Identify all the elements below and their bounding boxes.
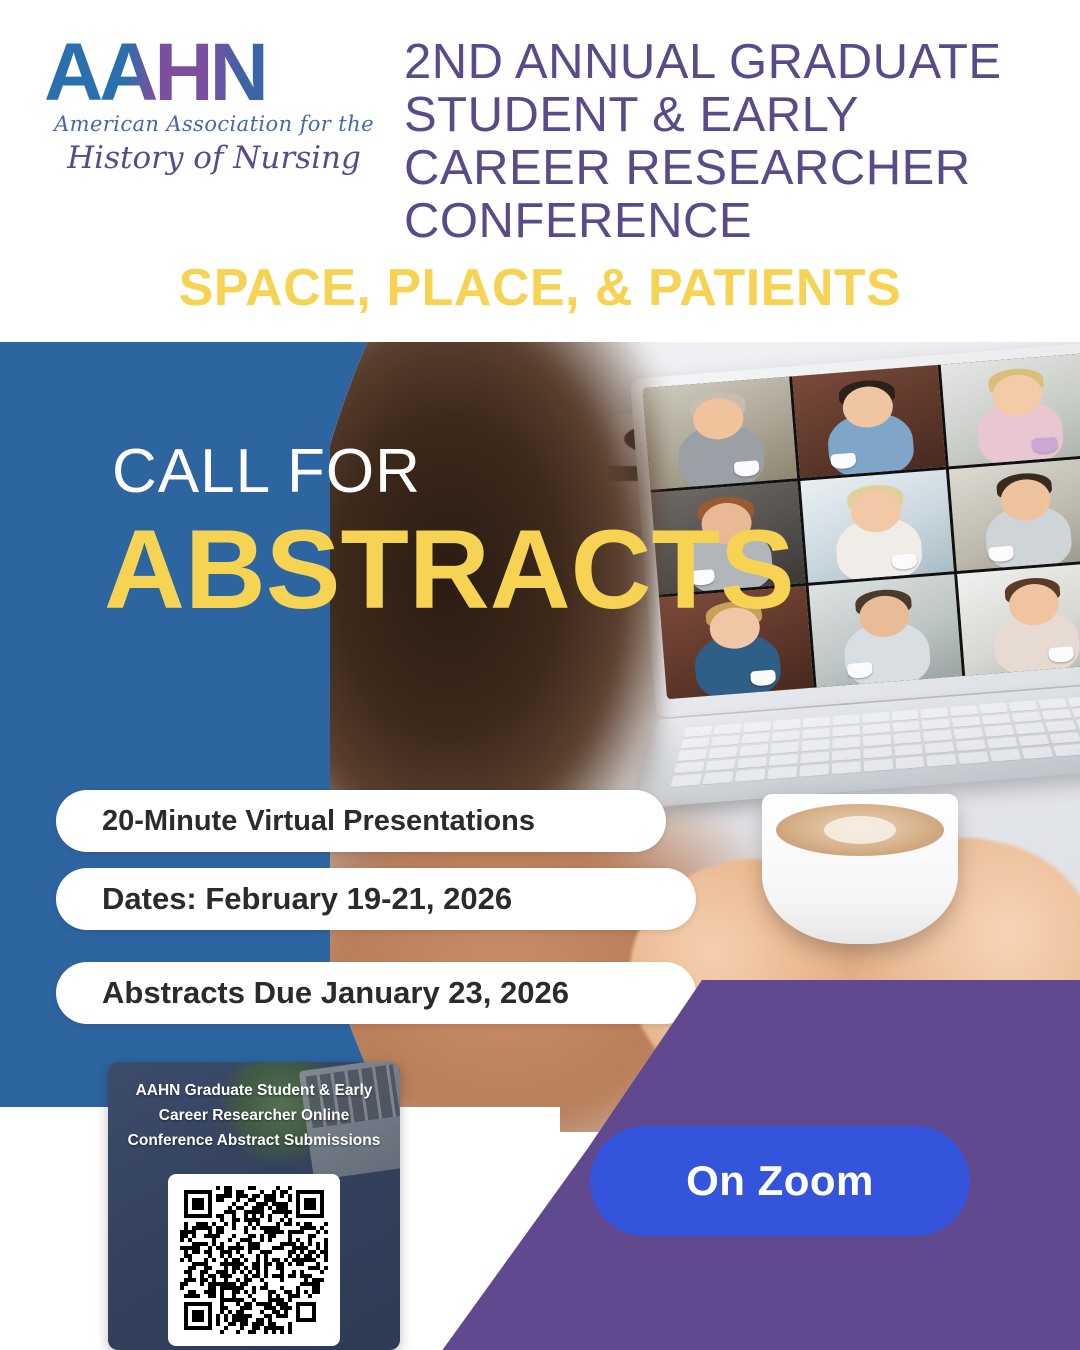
conference-poster: CALL FOR ABSTRACTS 20-Minute Virtual Pre… xyxy=(0,0,1080,1350)
on-zoom-button[interactable]: On Zoom xyxy=(590,1126,970,1236)
conference-theme: SPACE, PLACE, & PATIENTS xyxy=(0,258,1080,318)
conference-title-line-4: CONFERENCE xyxy=(404,195,1064,248)
qr-code-image[interactable] xyxy=(168,1174,340,1346)
video-tile xyxy=(941,353,1080,466)
qr-caption-line-1: AAHN Graduate Student & Early xyxy=(116,1078,392,1103)
headline-call-for: CALL FOR xyxy=(112,436,421,507)
aahn-logo-tagline-line-1: American Association for the xyxy=(54,112,374,136)
conference-title-line-1: 2ND ANNUAL GRADUATE xyxy=(404,36,1064,89)
video-tile xyxy=(949,458,1080,571)
video-tile xyxy=(957,562,1080,675)
aahn-logo-wordmark: AAHN xyxy=(44,38,364,108)
detail-pill-presentations-label: 20-Minute Virtual Presentations xyxy=(56,805,535,838)
headline-abstracts: ABSTRACTS xyxy=(104,505,795,634)
poster-header: AAHN American Association for the Histor… xyxy=(0,0,1080,342)
conference-title-line-2: STUDENT & EARLY xyxy=(404,89,1064,142)
qr-caption: AAHN Graduate Student & Early Career Res… xyxy=(116,1078,392,1153)
aahn-logo: AAHN American Association for the Histor… xyxy=(44,38,384,208)
latte-cup xyxy=(762,794,958,944)
detail-pill-dates: Dates: February 19-21, 2026 xyxy=(56,868,696,930)
aahn-logo-tagline-line-2: History of Nursing xyxy=(54,140,374,176)
video-tile xyxy=(800,470,954,583)
qr-caption-line-2: Career Researcher Online xyxy=(116,1103,392,1128)
detail-pill-deadline-label: Abstracts Due January 23, 2026 xyxy=(56,975,569,1011)
detail-pill-presentations: 20-Minute Virtual Presentations xyxy=(56,790,666,852)
video-tile xyxy=(643,377,797,490)
qr-code-card[interactable]: AAHN Graduate Student & Early Career Res… xyxy=(108,1062,400,1350)
detail-pill-dates-label: Dates: February 19-21, 2026 xyxy=(56,881,512,917)
detail-pill-deadline: Abstracts Due January 23, 2026 xyxy=(56,962,696,1024)
qr-code-canvas xyxy=(180,1186,328,1334)
qr-caption-line-3: Conference Abstract Submissions xyxy=(116,1128,392,1153)
conference-title-line-3: CAREER RESEARCHER xyxy=(404,142,1064,195)
aahn-logo-tagline: American Association for the History of … xyxy=(54,112,374,176)
on-zoom-button-label: On Zoom xyxy=(686,1157,874,1205)
video-tile xyxy=(792,365,946,478)
video-tile xyxy=(808,574,962,687)
conference-title: 2ND ANNUAL GRADUATE STUDENT & EARLY CARE… xyxy=(404,36,1064,248)
